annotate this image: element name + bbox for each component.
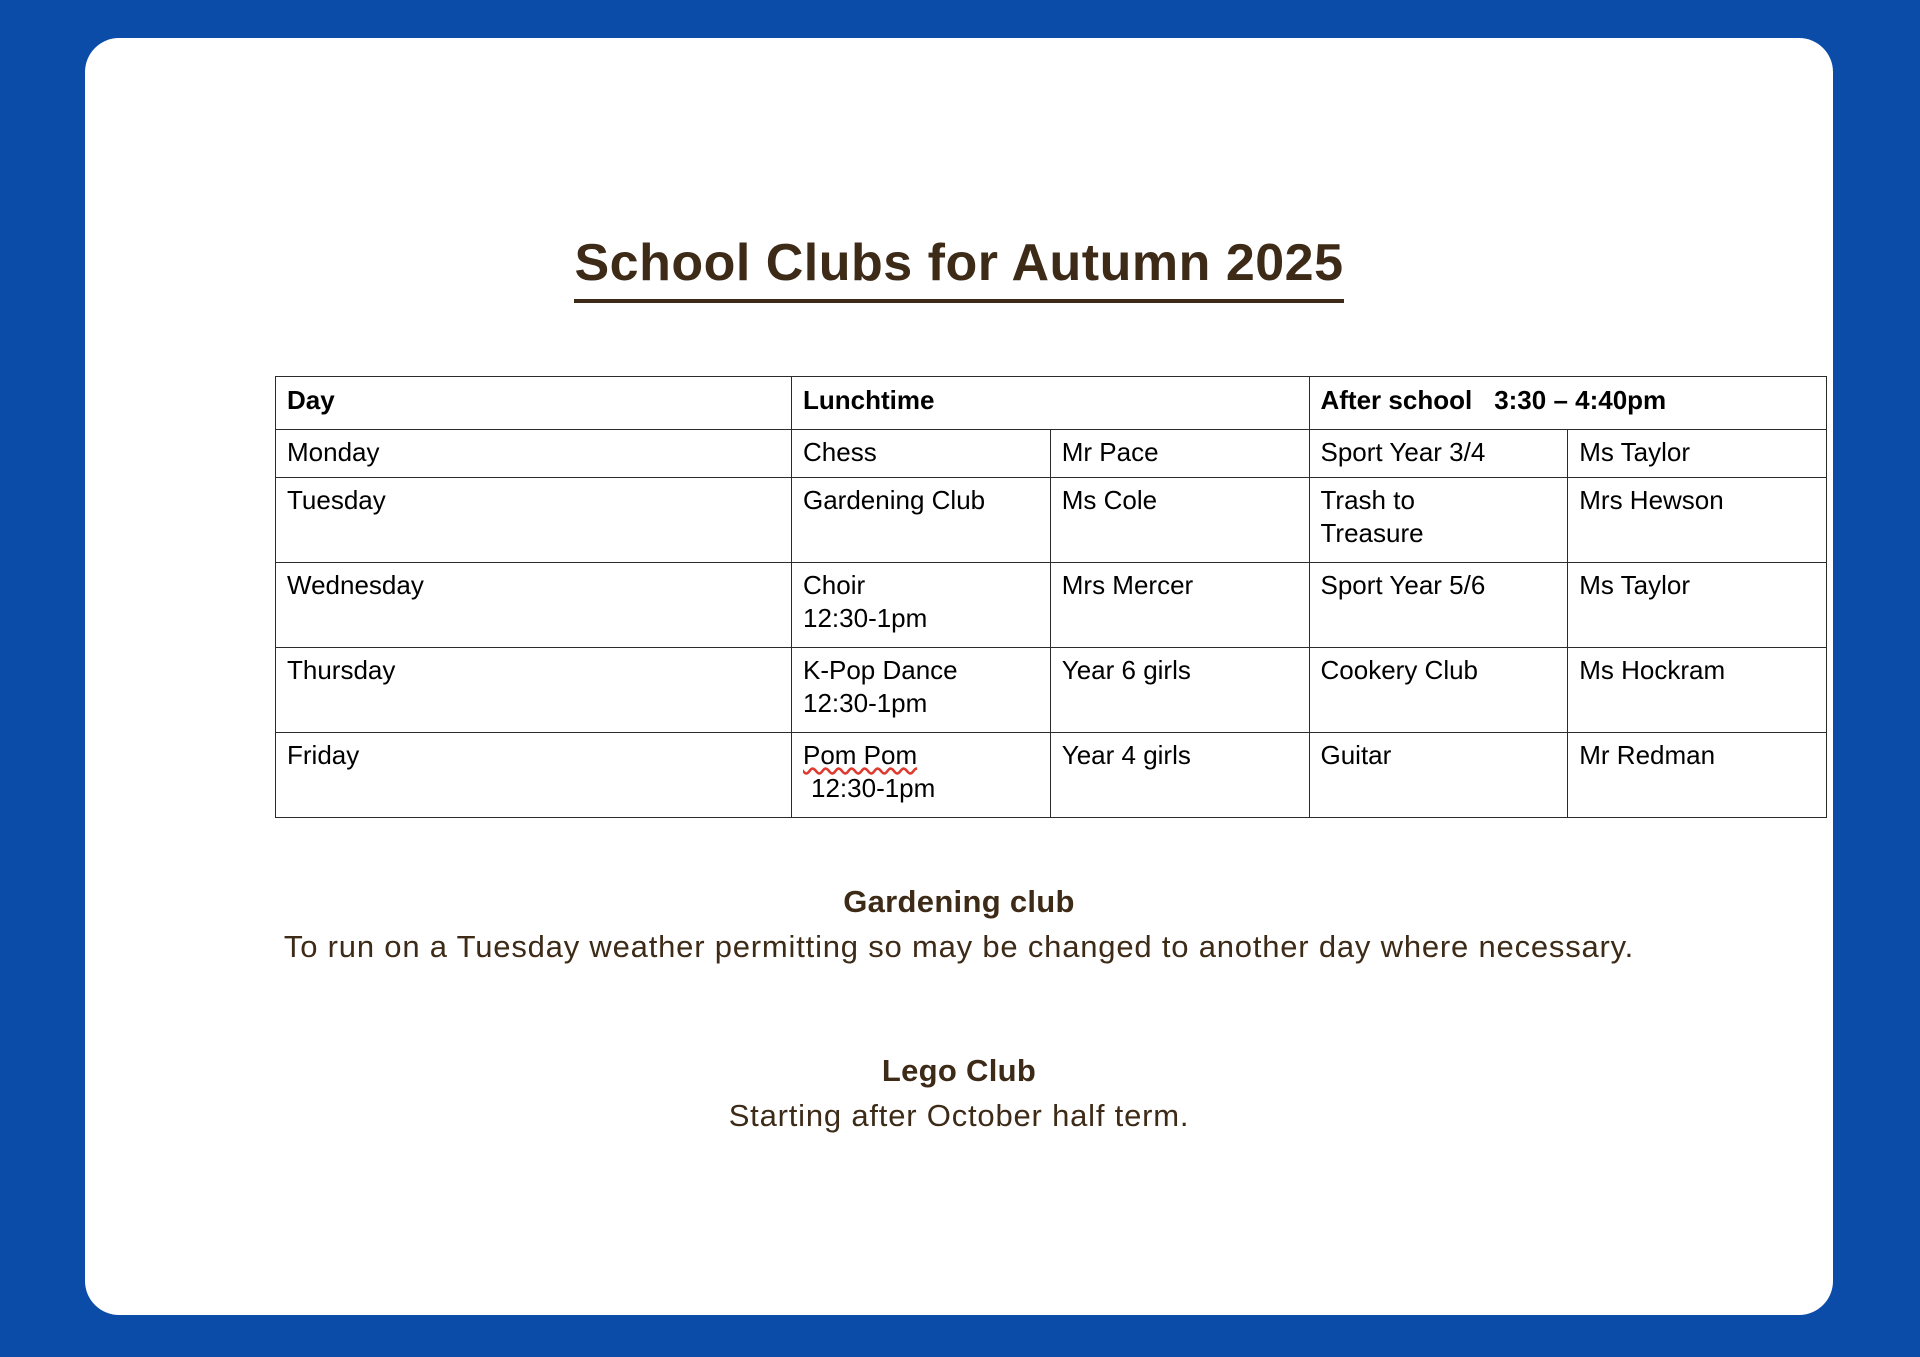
after-club-line1: Sport Year 3/4	[1321, 437, 1486, 467]
cell-lunch-staff: Ms Cole	[1050, 478, 1309, 563]
cell-after-club: Trash to Treasure	[1309, 478, 1568, 563]
note-body: To run on a Tuesday weather permitting s…	[149, 926, 1769, 968]
lunch-club-name: Choir	[803, 570, 865, 600]
note-gardening-club: Gardening club To run on a Tuesday weath…	[85, 884, 1833, 968]
page-title-text: School Clubs for Autumn 2025	[574, 233, 1343, 303]
table-header: Day Lunchtime After school3:30 – 4:40pm	[276, 377, 1827, 430]
table-row: Tuesday Gardening Club Ms Cole Trash to …	[276, 478, 1827, 563]
cell-after-club: Sport Year 5/6	[1309, 563, 1568, 648]
cell-day: Thursday	[276, 648, 792, 733]
note-lego-club: Lego Club Starting after October half te…	[85, 1053, 1833, 1137]
after-club-line1: Guitar	[1321, 740, 1392, 770]
after-club-line1: Cookery Club	[1321, 655, 1479, 685]
cell-after-staff: Mrs Hewson	[1568, 478, 1827, 563]
table-row: Thursday K-Pop Dance 12:30-1pm Year 6 gi…	[276, 648, 1827, 733]
cell-lunch-staff: Mrs Mercer	[1050, 563, 1309, 648]
table-row: Monday Chess Mr Pace Sport Year 3/4 Ms T…	[276, 430, 1827, 478]
table: Day Lunchtime After school3:30 – 4:40pm …	[275, 376, 1827, 818]
lunch-club-name: Chess	[803, 437, 877, 467]
column-header-lunchtime: Lunchtime	[792, 377, 1310, 430]
note-body: Starting after October half term.	[149, 1095, 1769, 1137]
poster-card: School Clubs for Autumn 2025 Day Lunchti…	[85, 38, 1833, 1315]
table-row: Friday Pom Pom 12:30-1pm Year 4 girls Gu…	[276, 733, 1827, 818]
after-club-line1: Trash to	[1321, 485, 1415, 515]
cell-after-staff: Mr Redman	[1568, 733, 1827, 818]
cell-lunch-club: Gardening Club	[792, 478, 1051, 563]
note-heading: Gardening club	[85, 884, 1833, 920]
after-school-time: 3:30 – 4:40pm	[1494, 385, 1666, 415]
cell-after-club: Guitar	[1309, 733, 1568, 818]
cell-after-staff: Ms Taylor	[1568, 430, 1827, 478]
after-club-line2: Treasure	[1321, 517, 1557, 550]
cell-day: Friday	[276, 733, 792, 818]
cell-day: Tuesday	[276, 478, 792, 563]
cell-day: Monday	[276, 430, 792, 478]
cell-lunch-staff: Year 6 girls	[1050, 648, 1309, 733]
cell-after-club: Cookery Club	[1309, 648, 1568, 733]
lunch-club-name: Pom Pom	[803, 740, 917, 770]
table-row: Wednesday Choir 12:30-1pm Mrs Mercer Spo…	[276, 563, 1827, 648]
table-header-row: Day Lunchtime After school3:30 – 4:40pm	[276, 377, 1827, 430]
cell-lunch-staff: Mr Pace	[1050, 430, 1309, 478]
cell-lunch-club: Pom Pom 12:30-1pm	[792, 733, 1051, 818]
lunch-club-name: K-Pop Dance	[803, 655, 958, 685]
table-body: Monday Chess Mr Pace Sport Year 3/4 Ms T…	[276, 430, 1827, 818]
lunch-club-time: 12:30-1pm	[803, 772, 1039, 805]
note-heading: Lego Club	[85, 1053, 1833, 1089]
after-club-line1: Sport Year 5/6	[1321, 570, 1486, 600]
cell-lunch-staff: Year 4 girls	[1050, 733, 1309, 818]
lunch-club-name: Gardening Club	[803, 485, 985, 515]
cell-after-club: Sport Year 3/4	[1309, 430, 1568, 478]
lunch-club-time: 12:30-1pm	[803, 602, 1039, 635]
cell-day: Wednesday	[276, 563, 792, 648]
cell-lunch-club: K-Pop Dance 12:30-1pm	[792, 648, 1051, 733]
column-header-after-school: After school3:30 – 4:40pm	[1309, 377, 1827, 430]
cell-lunch-club: Choir 12:30-1pm	[792, 563, 1051, 648]
cell-after-staff: Ms Taylor	[1568, 563, 1827, 648]
after-school-label: After school	[1321, 385, 1473, 415]
lunch-club-time: 12:30-1pm	[803, 687, 1039, 720]
cell-lunch-club: Chess	[792, 430, 1051, 478]
page-title: School Clubs for Autumn 2025	[85, 233, 1833, 303]
cell-after-staff: Ms Hockram	[1568, 648, 1827, 733]
column-header-day: Day	[276, 377, 792, 430]
clubs-schedule-table: Day Lunchtime After school3:30 – 4:40pm …	[275, 376, 1827, 818]
